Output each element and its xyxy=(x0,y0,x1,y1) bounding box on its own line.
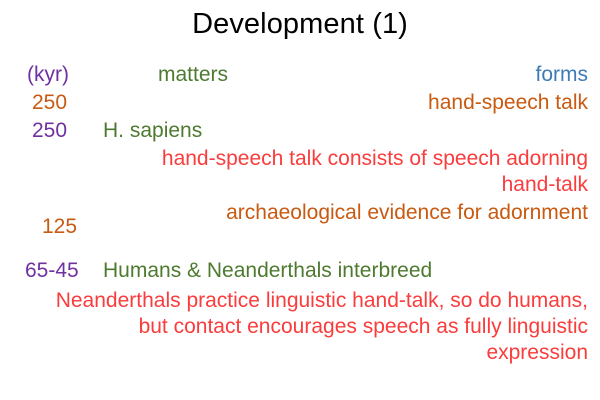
time-entry: 250 xyxy=(32,118,67,143)
forms-entry: archaeological evidence for adornment xyxy=(118,200,588,226)
time-entry: 65-45 xyxy=(25,258,79,283)
forms-entry: Neanderthals practice linguistic hand-ta… xyxy=(43,288,588,366)
matters-entry: H. sapiens xyxy=(103,118,202,143)
forms-entry: hand-speech talk consists of speech ador… xyxy=(118,146,588,198)
page-title: Development (1) xyxy=(0,6,600,42)
time-entry: 250 xyxy=(32,90,67,115)
column-header-matters: matters xyxy=(158,62,228,87)
slide-canvas: Development (1) (kyr) matters forms 250 … xyxy=(0,0,600,400)
time-entry: 125 xyxy=(42,214,77,239)
matters-entry: Humans & Neanderthals interbreed xyxy=(103,258,432,283)
forms-entry: hand-speech talk xyxy=(168,90,588,116)
column-header-time-unit: (kyr) xyxy=(27,62,69,87)
column-header-forms: forms xyxy=(536,62,589,87)
